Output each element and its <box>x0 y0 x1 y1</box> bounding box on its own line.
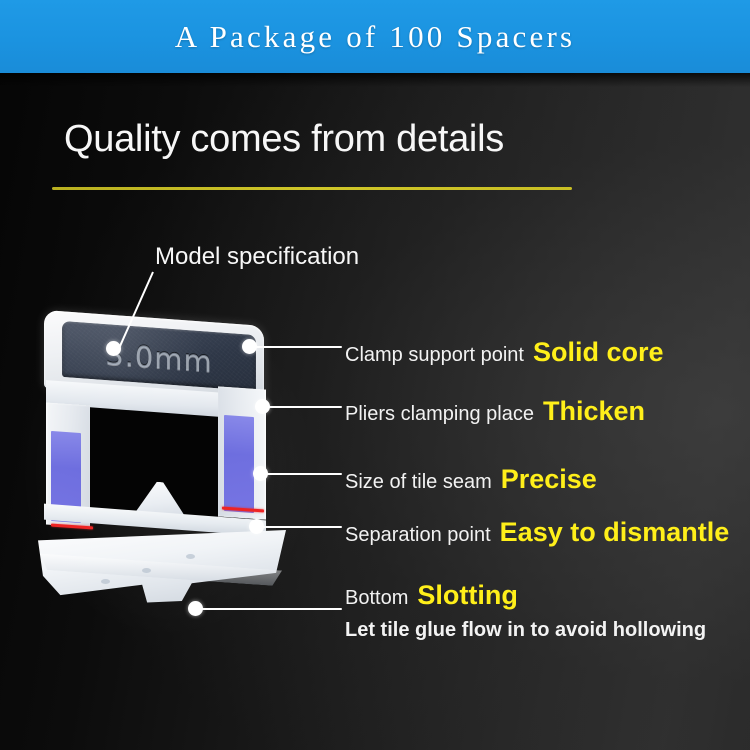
callout-emphasis-clamp-support-point: Solid core <box>533 337 664 368</box>
base-hole-1 <box>186 554 195 559</box>
product-infographic: A Package of 100 Spacers Quality comes f… <box>0 0 750 750</box>
callout-separation-point: Separation point Easy to dismantle <box>345 517 729 548</box>
callout-pliers-clamping-place: Pliers clamping place Thicken <box>345 396 645 427</box>
bottom-note: Let tile glue flow in to avoid hollowing <box>345 619 706 642</box>
section-heading: Quality comes from details <box>64 118 504 161</box>
callout-dot-clamp-support-point <box>242 339 257 354</box>
callout-size-of-tile-seam: Size of tile seam Precise <box>345 464 597 495</box>
clip-arch <box>42 386 270 526</box>
callout-dot-size-of-tile-seam <box>253 466 268 481</box>
leader-line-size-of-tile-seam <box>267 473 342 475</box>
callout-emphasis-bottom-slotting: Slotting <box>417 580 517 611</box>
callout-emphasis-separation-point: Easy to dismantle <box>500 517 730 548</box>
header-banner: A Package of 100 Spacers <box>0 0 750 73</box>
leader-line-clamp-support-point <box>256 346 342 348</box>
callout-dot-bottom-slotting <box>188 601 203 616</box>
callout-label-model-specification: Model specification <box>155 243 359 271</box>
banner-shadow <box>0 73 750 87</box>
callout-clamp-support-point: Clamp support point Solid core <box>345 337 664 368</box>
callout-label-separation-point: Separation point <box>345 524 491 547</box>
base-hole-3 <box>101 579 110 584</box>
callout-label-size-of-tile-seam: Size of tile seam <box>345 471 492 494</box>
banner-title: A Package of 100 Spacers <box>175 19 575 55</box>
callout-emphasis-size-of-tile-seam: Precise <box>501 464 597 495</box>
heading-underline <box>52 187 572 190</box>
callout-dot-model-specification <box>106 341 121 356</box>
leader-line-separation-point <box>263 526 342 528</box>
callout-label-bottom-slotting: Bottom <box>345 587 408 610</box>
callout-dot-pliers-clamping-place <box>255 399 270 414</box>
callout-emphasis-pliers-clamping-place: Thicken <box>543 396 645 427</box>
callout-bottom-slotting: Bottom Slotting <box>345 580 518 611</box>
callout-label-clamp-support-point: Clamp support point <box>345 344 524 367</box>
leader-line-pliers-clamping-place <box>269 406 342 408</box>
base-hole-2 <box>142 568 151 573</box>
leader-line-bottom-slotting <box>202 608 342 610</box>
seam-strip-right <box>224 415 254 513</box>
callout-dot-separation-point <box>249 519 264 534</box>
callout-label-pliers-clamping-place: Pliers clamping place <box>345 403 534 426</box>
